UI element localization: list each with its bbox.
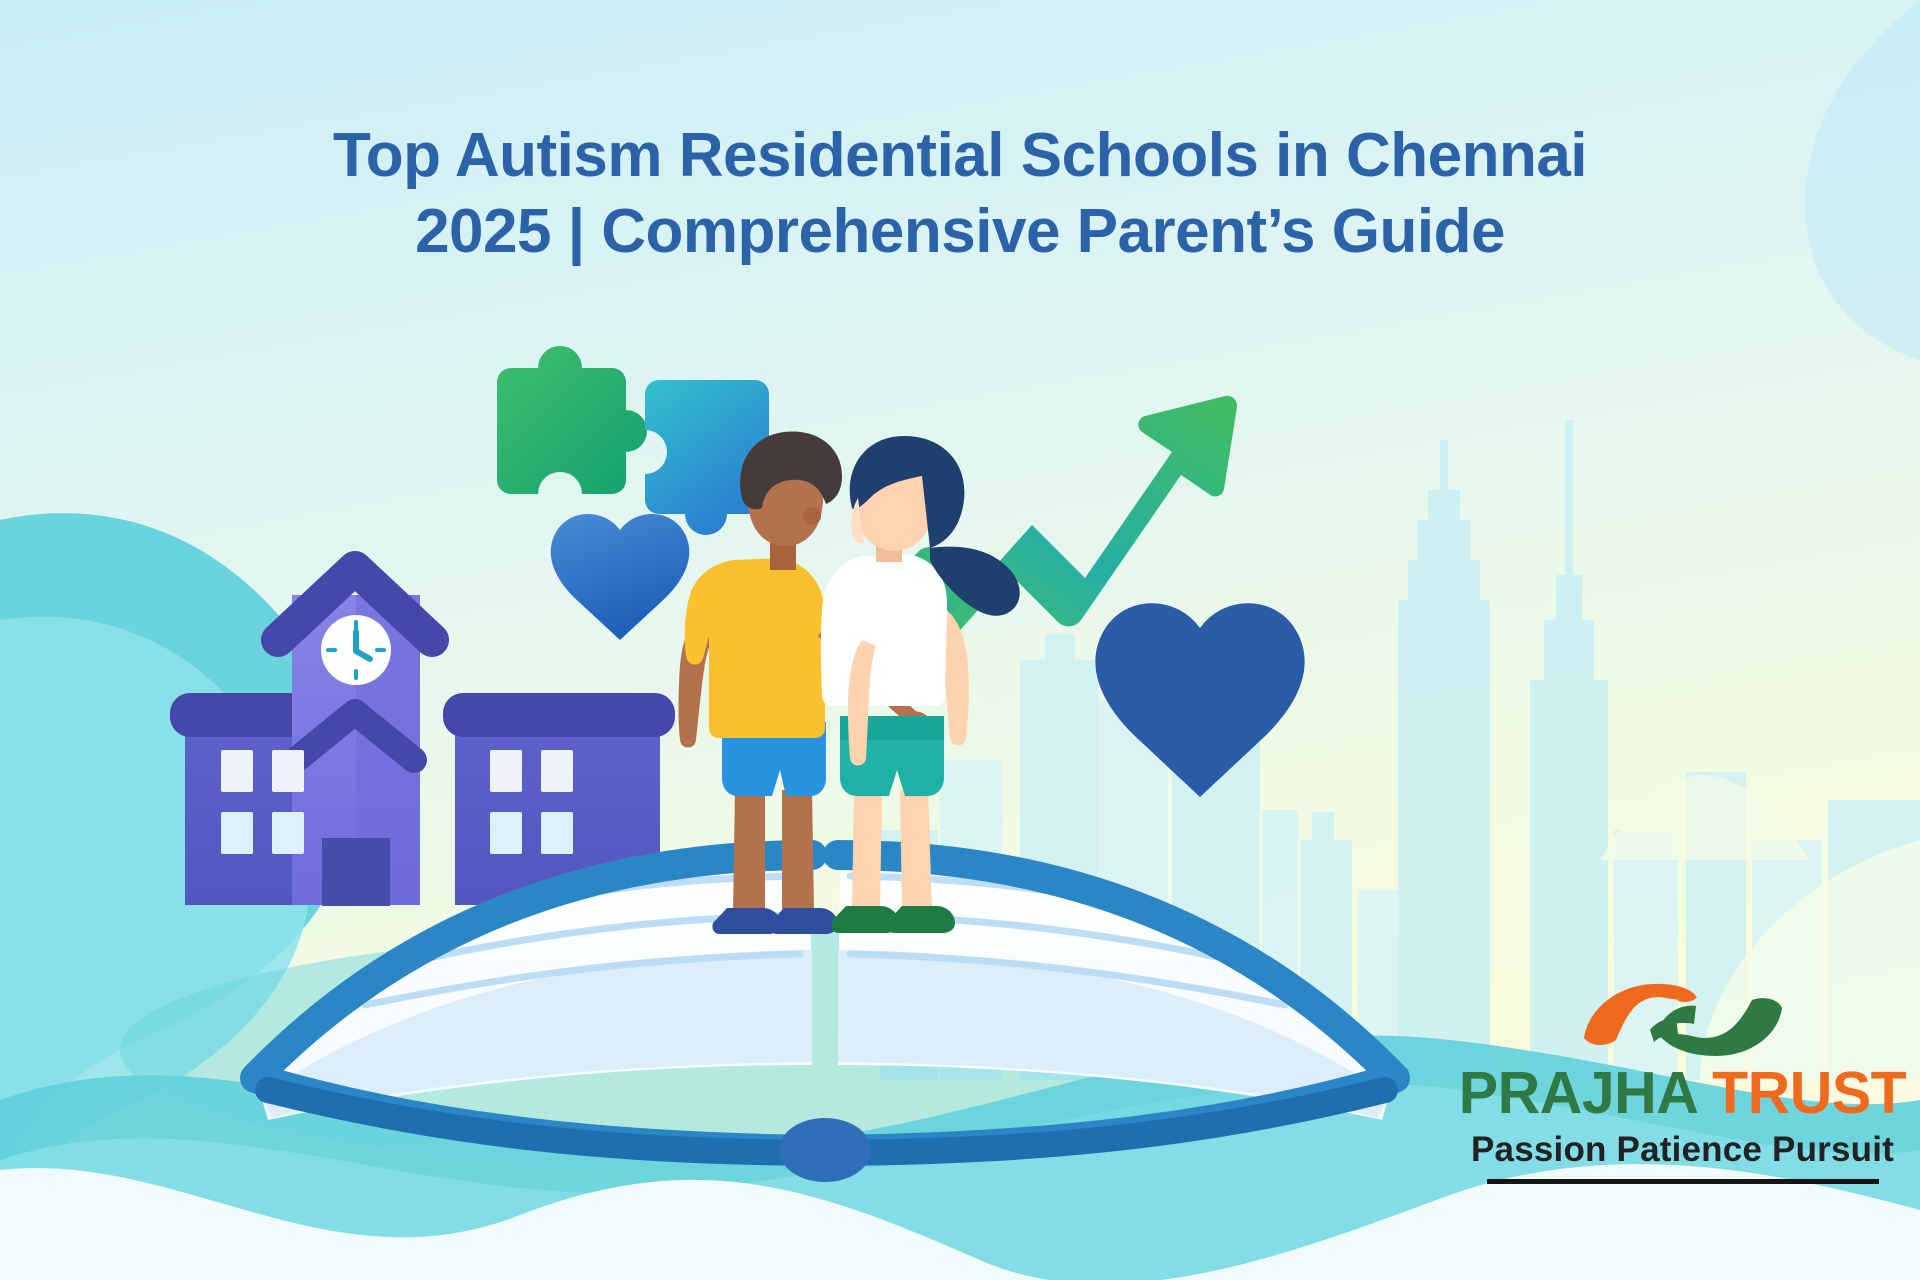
open-book-icon (255, 852, 1395, 1182)
boy-hand (901, 707, 936, 739)
girl-arm-right (932, 608, 969, 746)
boy-hair (740, 431, 842, 509)
logo-word-prajha: PRAJHA (1459, 1060, 1696, 1126)
girl-arm-left (848, 640, 876, 766)
book-cover (255, 855, 1395, 1150)
child-girl-figure (821, 436, 1020, 933)
book-shadow (120, 930, 1360, 1170)
girl-ponytail (930, 547, 1020, 616)
boy-shorts (722, 722, 826, 796)
boy-arm-left (679, 614, 719, 748)
logo-tagline: Passion Patience Pursuit (1455, 1130, 1910, 1170)
helping-hands-icon (1578, 978, 1788, 1060)
page-lines-right (850, 876, 1285, 1005)
boy-shoe-left (712, 908, 781, 934)
logo-word-trust: TRUST (1712, 1060, 1906, 1126)
logo-underline (1487, 1179, 1879, 1184)
book-spine (268, 1090, 1385, 1153)
book-spine-knob (779, 1118, 871, 1182)
girl-shoe-left (831, 906, 899, 933)
girl-shoe-right (887, 906, 955, 933)
girl-hair (850, 436, 965, 548)
brand-logo[interactable]: PRAJHA TRUST Passion Patience Pursuit (1455, 978, 1910, 1184)
child-boy-figure (679, 431, 936, 934)
school-door (322, 838, 390, 906)
boy-arm-right (818, 620, 920, 725)
puzzle-piece-blue-icon (645, 380, 769, 535)
wave-left-light (0, 617, 310, 1230)
growth-arrow-icon (854, 396, 1237, 670)
article-hero-banner: Top Autism Residential Schools in Chenna… (0, 0, 1920, 1280)
heart-small-icon (551, 514, 690, 640)
girl-shorts (840, 716, 944, 796)
logo-wordmark: PRAJHA TRUST (1455, 1064, 1910, 1123)
page-title-line-2: 2025 | Comprehensive Parent’s Guide (0, 194, 1920, 270)
heart-large-icon (1095, 603, 1304, 797)
page-title: Top Autism Residential Schools in Chenna… (0, 118, 1920, 269)
page-title-line-1: Top Autism Residential Schools in Chenna… (0, 118, 1920, 194)
clock-hands (356, 632, 370, 659)
puzzle-piece-green-icon (497, 346, 647, 494)
boy-shirt (685, 558, 825, 738)
girl-shirt (821, 554, 947, 706)
wave-left-dark (0, 513, 357, 1180)
school-building-icon (170, 568, 675, 906)
boy-shoe-right (769, 908, 838, 934)
clock-face (321, 615, 391, 685)
page-lines-left (365, 876, 800, 1005)
